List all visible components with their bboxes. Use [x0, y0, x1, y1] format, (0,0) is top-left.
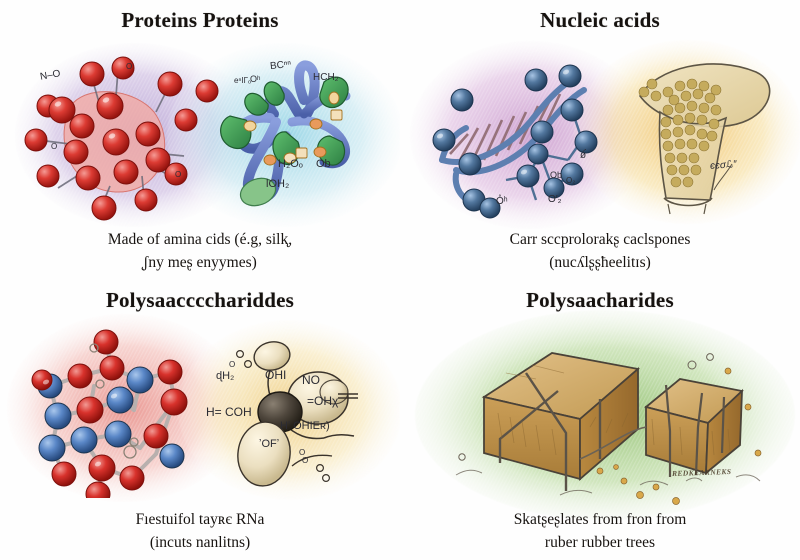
- panel-caption-polysaccharides-right: Skatʂeʂlates from fron from ruber rubber…: [400, 509, 800, 554]
- caption-line-2: ̨ʃny meʂ enyymes): [0, 252, 400, 274]
- panel-title-nucleic-acids: Nucleic acids: [400, 8, 800, 33]
- panel-caption-polysaccharides-left: Fıestuifol tayʀє RNa (incuts nanlitns): [0, 509, 400, 554]
- rubber-bales-on-grass: [440, 335, 770, 510]
- caption-line-1: Skatʂeʂlates from fron from: [514, 511, 687, 528]
- caption-line-1: Carr sccprolorakʂ caclspones: [510, 231, 691, 248]
- caption-line-1: Fıestuifol tayʀє RNa: [136, 511, 265, 528]
- caption-line-1: Made of amina cids (é.g, silk̨,: [108, 231, 292, 248]
- panel-title-polysaccharides-right: Polysaacharides: [400, 288, 800, 313]
- panel-nucleic-acids: ǿ́ Ob O₂ O̊ʰ O′₂ єєσℒ″ Nucleic acids Car…: [400, 0, 800, 280]
- dna-double-helix: [420, 48, 620, 228]
- infographic-poster: N–O O O O BCⁿⁿ HCH₂ Oʰ H₂Oₒ Ob ƖOH₂ eⁿIΓ…: [0, 0, 800, 560]
- panel-polysaccharides-left: ɖH₂ OHI NO =OHχ H= COH Hʹ OHIEʀ) ʼOFʼ O …: [0, 280, 400, 560]
- panel-title-polysaccharides-left: Polysaacccchariddes: [0, 288, 400, 313]
- flask-of-granules: [622, 48, 792, 220]
- red-blue-sphere-lattice: [22, 328, 212, 498]
- caption-line-2: ruber rubber trees: [400, 532, 800, 554]
- red-sphere-protein-cluster: [18, 48, 208, 228]
- panel-proteins: N–O O O O BCⁿⁿ HCH₂ Oʰ H₂Oₒ Ob ƖOH₂ eⁿIΓ…: [0, 0, 400, 280]
- cream-dark-ball-and-stick: [212, 336, 387, 496]
- panel-polysaccharides-right: REDKEARNEKS Polysaacharides Skatʂeʂlates…: [400, 280, 800, 560]
- caption-line-2: (incuts nanlitns): [0, 532, 400, 554]
- green-blue-ribbon-protein: [212, 52, 387, 222]
- panel-title-proteins: Proteins Proteins: [0, 8, 400, 33]
- caption-line-2: (nucʎlʂʂħeelitɪs): [400, 252, 800, 274]
- panel-caption-nucleic-acids: Carr sccprolorakʂ caclspones (nucʎlʂʂħee…: [400, 229, 800, 274]
- panel-caption-proteins: Made of amina cids (é.g, silk̨, ̨ʃny me…: [0, 229, 400, 274]
